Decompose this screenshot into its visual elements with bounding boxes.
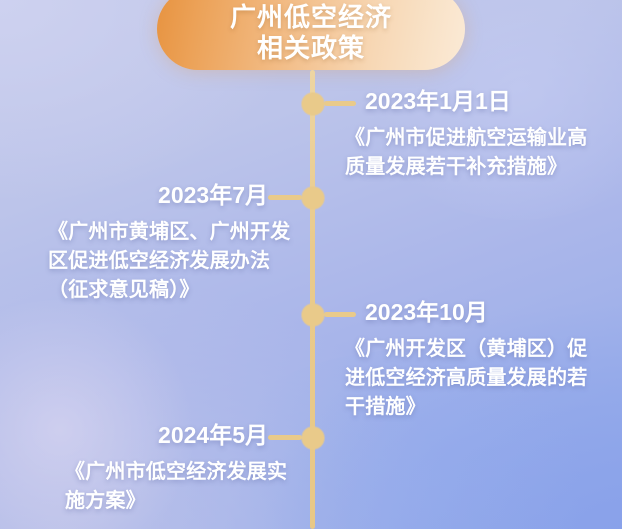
- timeline-entry-2: 2023年7月 《广州市黄埔区、广州开发区促进低空经济发展办法（征求意见稿）》: [20, 182, 268, 305]
- timeline-dot-4: [302, 427, 324, 449]
- timeline-entry-4: 2024年5月 《广州市低空经济发展实施方案》: [20, 422, 268, 516]
- entry-policy: 《广州开发区（黄埔区）促进低空经济高质量发展的若干措施》: [345, 335, 597, 422]
- timeline-axis: [310, 70, 315, 529]
- timeline-dot-3: [302, 304, 324, 326]
- entry-policy: 《广州市促进航空运输业高质量发展若干补充措施》: [345, 124, 595, 182]
- timeline-connector-3: [324, 312, 356, 317]
- timeline-dot-2: [302, 187, 324, 209]
- entry-date: 2024年5月: [20, 422, 268, 449]
- entry-policy: 《广州市黄埔区、广州开发区促进低空经济发展办法（征求意见稿）》: [48, 218, 296, 305]
- timeline-entry-1: 2023年1月1日 《广州市促进航空运输业高质量发展若干补充措施》: [365, 88, 610, 182]
- entry-date: 2023年1月1日: [365, 88, 610, 115]
- page-title: 广州低空经济 相关政策: [157, 2, 465, 64]
- timeline-dot-1: [302, 93, 324, 115]
- entry-policy: 《广州市低空经济发展实施方案》: [65, 458, 305, 516]
- timeline-connector-4: [268, 435, 302, 440]
- entry-date: 2023年10月: [365, 299, 610, 326]
- entry-date: 2023年7月: [20, 182, 268, 209]
- timeline-connector-1: [324, 101, 356, 106]
- timeline-entry-3: 2023年10月 《广州开发区（黄埔区）促进低空经济高质量发展的若干措施》: [365, 299, 610, 422]
- infographic-canvas: 广州低空经济 相关政策 2023年1月1日 《广州市促进航空运输业高质量发展若干…: [0, 0, 622, 529]
- timeline-connector-2: [268, 195, 302, 200]
